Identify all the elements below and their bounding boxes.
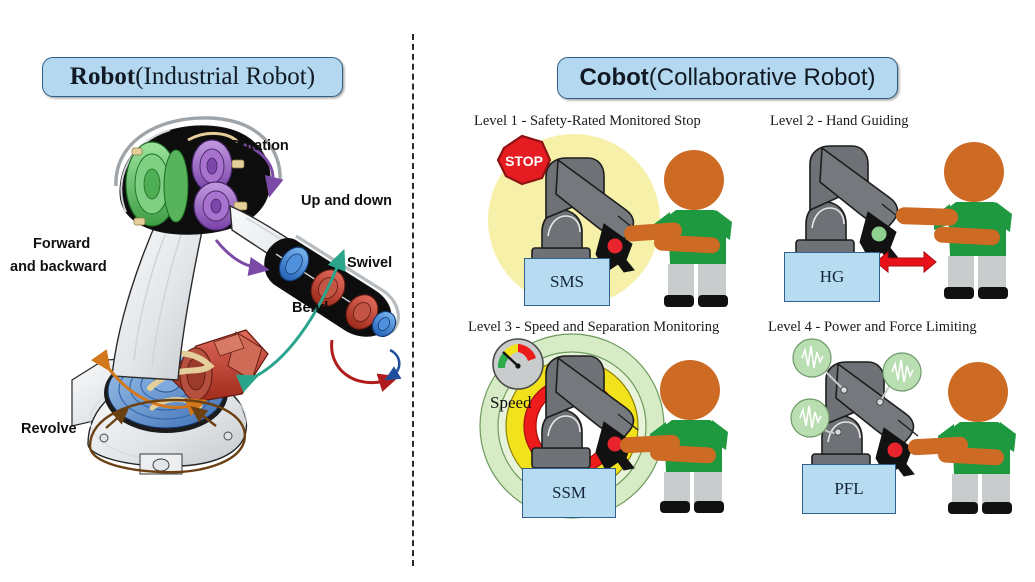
label-swivel: Swivel xyxy=(347,255,392,273)
label-revolve: Revolve xyxy=(21,421,77,439)
person-head xyxy=(660,360,720,420)
motion-arrow-bend xyxy=(332,340,388,383)
diagram-canvas: Robot (Industrial Robot) xyxy=(0,0,1035,582)
level-4-panel: PFL xyxy=(778,336,1034,520)
industrial-robot-illustration xyxy=(0,108,412,473)
person-level-4 xyxy=(908,362,1016,514)
speed-gauge-label: Speed xyxy=(490,393,532,412)
level-4-badge: PFL xyxy=(802,464,896,514)
level-4-label: Level 4 - Power and Force Limiting xyxy=(768,319,977,336)
level-1-panel: STOP SMS xyxy=(478,132,738,312)
speed-gauge xyxy=(493,339,543,389)
vertical-divider xyxy=(412,34,414,566)
cobot-title-rest: (Collaborative Robot) xyxy=(649,64,876,92)
robot-title-pill: Robot (Industrial Robot) xyxy=(42,57,343,97)
cobot-title-pill: Cobot (Collaborative Robot) xyxy=(557,57,898,99)
person-level-2 xyxy=(896,142,1012,299)
motion-arrow-swivel xyxy=(390,350,399,376)
person-head xyxy=(944,142,1004,202)
level-3-badge: SSM xyxy=(522,468,616,518)
level-3-label: Level 3 - Speed and Separation Monitorin… xyxy=(468,319,719,336)
label-rotation: Rotation xyxy=(230,138,289,156)
label-backward: and backward xyxy=(10,259,107,277)
level-1-badge: SMS xyxy=(524,258,610,306)
robot-green-motor xyxy=(126,142,188,226)
gripper-indicator xyxy=(872,227,887,242)
label-forward: Forward xyxy=(33,236,90,254)
level-1-label: Level 1 - Safety-Rated Monitored Stop xyxy=(474,113,701,130)
label-up-and-down: Up and down xyxy=(301,193,392,211)
stop-sign: STOP xyxy=(498,136,550,184)
gripper-indicator xyxy=(888,443,903,458)
cobot-title-bold: Cobot xyxy=(579,64,648,92)
person-head xyxy=(664,150,724,210)
industrial-robot-svg xyxy=(0,108,412,473)
label-bend: Bend xyxy=(292,300,328,318)
hand-guiding-double-arrow xyxy=(876,252,936,272)
level-2-label: Level 2 - Hand Guiding xyxy=(770,113,909,130)
robot-title-rest: (Industrial Robot) xyxy=(135,63,315,91)
level-2-badge: HG xyxy=(784,252,880,302)
cobot-arm-level-2 xyxy=(796,146,902,260)
level-3-panel: Speed SSM xyxy=(476,336,738,520)
robot-title-bold: Robot xyxy=(70,63,135,91)
svg-text:STOP: STOP xyxy=(505,153,543,169)
person-head xyxy=(948,362,1008,422)
gripper-indicator xyxy=(608,239,623,254)
person-arm-upper xyxy=(896,207,959,226)
level-2-panel: HG xyxy=(772,132,1030,312)
